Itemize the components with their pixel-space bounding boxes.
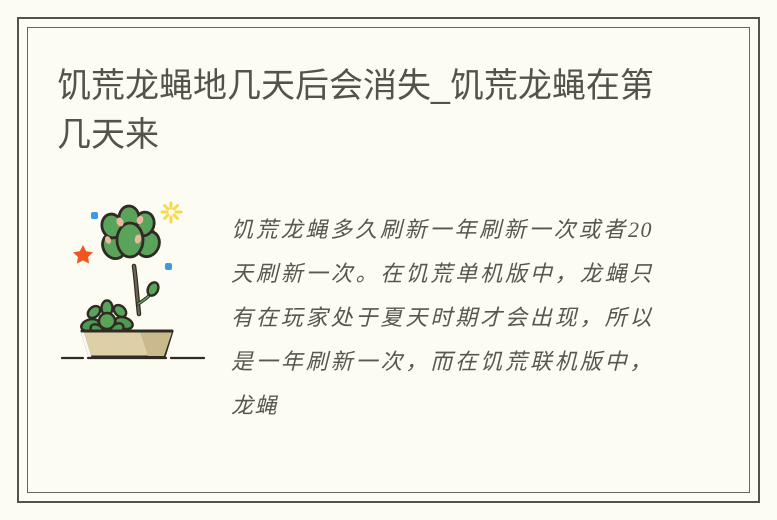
plant-side-twig [138,281,160,304]
article-card: 饥荒龙蝇地几天后会消失_饥荒龙蝇在第几天来 [0,0,777,520]
plant-stem [134,266,139,314]
potted-plant-illustration [52,192,222,372]
flower-pot [82,331,172,357]
page-title: 饥荒龙蝇地几天后会消失_饥荒龙蝇在第几天来 [57,62,657,160]
orange-star-icon [73,245,93,264]
blue-dot-upper-left-icon [91,212,98,219]
cactus-cluster-top [98,206,163,263]
blue-dot-right-icon [165,263,172,270]
article-body: 饥荒龙蝇多久刷新一年刷新一次或者20天刷新一次。在饥荒单机版中，龙蝇只有在玩家处… [231,208,653,428]
yellow-sunburst-icon [162,203,181,222]
